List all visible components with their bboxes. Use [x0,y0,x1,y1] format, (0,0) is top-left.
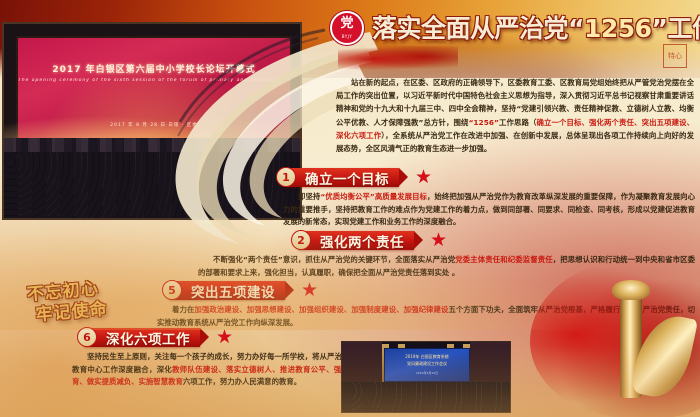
photo-audience [4,138,302,218]
gold-torch-ornament [598,276,682,408]
section-4-body: 坚持民生至上原则，关注每一个孩子的成长，努力办好每一所学校，将从严治党要求与教育… [72,351,372,389]
section-2-head: 强化两个责任 2 ★ [198,231,695,250]
section-block-1: 确立一个目标 1 ★ 即坚持“优质均衡公平”高质量发展目标，始终把加强从严治党作… [283,168,695,229]
projection-line-1: 2019年 白银区教育系统 [385,354,469,360]
poster-header: 党 BYJY 落实全面从严治党“1256”工作思路 特心 [330,8,695,52]
section-1-ribbon: 确立一个目标 [283,168,399,187]
logo-subtext: BYJY [332,34,362,39]
photo-headline: 2017 年白银区第六届中小学校长论坛开幕式 [18,62,290,75]
section-3-highlight: 加强政治建设、加强思想建设、加强组织建设、加强制度建设、加强纪律建设 [194,305,448,314]
bottom-meeting-photo: 2019年 白银区教育系统 党风廉政建设工作会议 2019年3月15日 [341,341,511,413]
section-3-ribbon: 突出五项建设 [169,281,285,300]
section-1-lead: 即坚持 [298,192,320,201]
title-number: 1256 [584,14,652,43]
section-2-star-icon: ★ [430,231,450,250]
section-3-star-icon: ★ [301,281,321,300]
photo-meeting-audience [342,382,511,412]
section-1-number-badge: 1 [276,167,296,187]
section-3-title: 突出五项建设 [191,281,275,301]
section-2-ribbon: 强化两个责任 [298,231,414,250]
photo-subhead: The opening ceremony of the sixth sessio… [18,78,290,83]
section-4-head: 深化六项工作 6 ★ [72,328,372,347]
section-1-title: 确立一个目标 [305,168,389,188]
title-prefix: 落实全面从严治党 [372,14,568,43]
intro-paragraph: 站在新的起点，在区委、区政府的正确领导下，区委教育工委、区教育局党组始终把从严管… [336,76,694,155]
poster-canvas: 2017 年白银区第六届中小学校长论坛开幕式 The opening cerem… [0,0,700,417]
section-4-ribbon: 深化六项工作 [84,328,200,347]
title-quote-open: “ [568,14,584,43]
torch-cap [612,280,650,300]
top-event-photo: 2017 年白银区第六届中小学校长论坛开幕式 The opening cerem… [2,22,302,220]
section-1-body: 即坚持“优质均衡公平”高质量发展目标，始终把加强从严治党作为教育改革纵深发展的重… [283,191,695,229]
section-2-lead: 不断强化“两个责任”意识，抓住从严治党的关键环节，全面落实从严治党 [213,255,455,264]
section-3-number-badge: 5 [162,280,182,300]
title-quote-close: ” [652,14,668,43]
calligraphy-slogan: 不忘初心 牢记使命 [6,277,122,333]
logo-mark: 党 [332,17,362,30]
page-title: 落实全面从严治党“1256”工作思路 [372,10,700,48]
section-4-star-icon: ★ [216,328,236,347]
title-suffix: 工作思路 [667,14,700,43]
section-4-number-badge: 6 [77,327,97,347]
section-2-title: 强化两个责任 [320,231,404,251]
intro-number-highlight: “1256” [469,118,499,127]
section-2-highlight: 党委主体责任和纪委监督责任 [455,255,552,264]
photo-projection-screen: 2019年 白银区教育系统 党风廉政建设工作会议 2019年3月15日 [384,348,470,382]
section-2-number-badge: 2 [291,230,311,250]
section-1-highlight: “优质均衡公平”高质量发展目标 [320,192,427,201]
projection-line-3: 2019年3月15日 [385,371,469,375]
organization-logo-icon: 党 BYJY [330,11,364,45]
photo-stage-screen: 2017 年白银区第六届中小学校长论坛开幕式 The opening cerem… [16,36,292,144]
section-1-star-icon: ★ [415,168,435,187]
section-4-title: 深化六项工作 [106,328,190,348]
section-3-lead: 着力在 [172,305,194,314]
intro-tail: ），全系统从严治党工作在改进中加强、在创新中发展，总体呈现出各项工作持续向上向好… [336,131,694,153]
projection-line-2: 党风廉政建设工作会议 [385,361,469,367]
section-4-rest: 六项工作，努力办人民满意的教育。 [183,377,301,386]
intro-mid: 工作思路（ [499,118,537,127]
section-1-head: 确立一个目标 1 ★ [283,168,695,187]
section-block-4: 深化六项工作 6 ★ 坚持民生至上原则，关注每一个孩子的成长，努力办好每一所学校… [72,328,372,389]
seal-stamp-icon: 特心 [663,44,687,68]
